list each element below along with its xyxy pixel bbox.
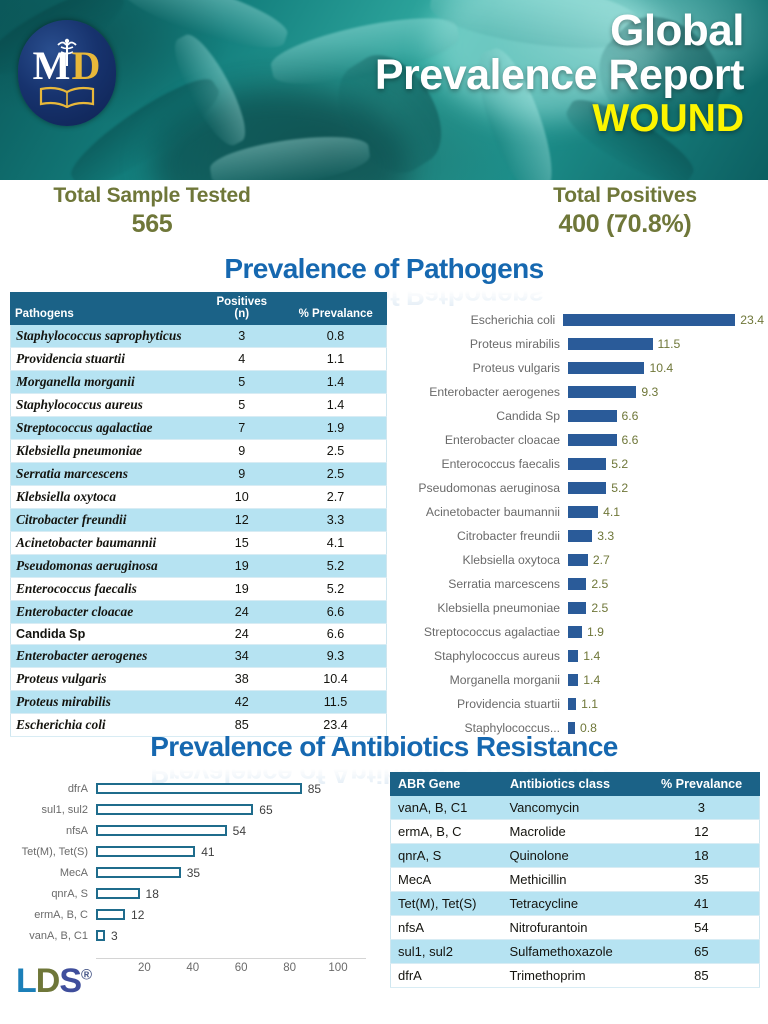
banner-title-line2: Prevalence Report [375, 53, 744, 97]
pathogen-bar-track: 2.7 [568, 548, 764, 572]
pathogen-bar-track: 23.4 [563, 308, 764, 332]
pathogen-bar-value: 1.1 [581, 697, 598, 711]
abr-bar-row: nfsA54 [6, 820, 374, 841]
abr-bar-value: 65 [259, 803, 272, 817]
pathogen-bar-track: 6.6 [568, 428, 764, 452]
cell-prevalence-pct: 5.2 [285, 555, 387, 578]
cell-abr-prevalence: 18 [644, 844, 760, 868]
pathogen-bar-value: 9.3 [641, 385, 658, 399]
pathogen-table-head: Pathogens Positives (n) % Prevalance [11, 293, 387, 325]
pathogen-bar-label: Providencia stuartii [392, 697, 568, 711]
cell-pathogen-name: Enterococcus faecalis [11, 578, 199, 601]
cell-positives-n: 19 [199, 555, 285, 578]
pathogen-bar-track: 6.6 [568, 404, 764, 428]
abr-table: ABR Gene Antibiotics class % Prevalance … [390, 772, 760, 988]
abr-bar-label: sul1, sul2 [6, 804, 96, 816]
abr-bar-track: 85 [96, 778, 374, 799]
table-row: Klebsiella pneumoniae92.5 [11, 440, 387, 463]
th-abr-prevalence: % Prevalance [644, 773, 760, 796]
pathogen-bar-track: 1.4 [568, 644, 764, 668]
abr-axis-tick-label: 20 [138, 962, 151, 974]
pathogen-bar-value: 11.5 [658, 337, 681, 351]
cell-positives-n: 24 [199, 601, 285, 624]
pathogen-bar-label: Proteus vulgaris [392, 361, 568, 375]
cell-positives-n: 5 [199, 371, 285, 394]
pathogen-bar [568, 602, 586, 614]
cell-pathogen-name: Acinetobacter baumannii [11, 532, 199, 555]
abr-bar-row: MecA35 [6, 862, 374, 883]
lds-logo-letter-s: S [59, 962, 81, 1000]
cell-abr-prevalence: 54 [644, 916, 760, 940]
banner-title-line1: Global [375, 8, 744, 53]
pathogen-bar-label: Morganella morganii [392, 673, 568, 687]
pathogen-bar-track: 1.9 [568, 620, 764, 644]
cell-prevalence-pct: 10.4 [285, 668, 387, 691]
pathogen-bar [568, 554, 588, 566]
pathogen-bar-label: Enterobacter aerogenes [392, 385, 568, 399]
pathogen-bar-label: Proteus mirabilis [392, 337, 568, 351]
th-pathogens: Pathogens [11, 293, 199, 325]
cell-positives-n: 42 [199, 691, 285, 714]
abr-axis-ticks: 20406080100 [96, 962, 374, 982]
pathogen-bar-row: Proteus vulgaris10.4 [392, 356, 764, 380]
cell-pathogen-name: Serratia marcescens [11, 463, 199, 486]
abr-bar-track: 41 [96, 841, 374, 862]
summary-stats: Total Sample Tested 565 Total Positives … [0, 184, 768, 256]
abr-bar [96, 825, 227, 836]
table-row: Candida Sp246.6 [11, 624, 387, 645]
abr-bar [96, 930, 105, 941]
stat-total-sample-value: 565 [22, 208, 282, 242]
abr-bar-value: 54 [233, 824, 246, 838]
stat-total-positives-label: Total Positives [500, 184, 750, 208]
md-logo-letter-d: D [71, 43, 101, 88]
table-row: Staphylococcus saprophyticus30.8 [11, 325, 387, 348]
table-row: Streptococcus agalactiae71.9 [11, 417, 387, 440]
cell-pathogen-name: Candida Sp [11, 624, 199, 645]
cell-abr-gene: sul1, sul2 [391, 940, 503, 964]
abr-bar-value: 3 [111, 929, 118, 943]
abr-bar-value: 12 [131, 908, 144, 922]
cell-positives-n: 3 [199, 325, 285, 348]
cell-prevalence-pct: 3.3 [285, 509, 387, 532]
pathogen-bar-row: Pseudomonas aeruginosa5.2 [392, 476, 764, 500]
abr-bar-label: vanA, B, C1 [6, 930, 96, 942]
pathogen-bar-label: Enterococcus faecalis [392, 457, 568, 471]
cell-abr-prevalence: 65 [644, 940, 760, 964]
pathogen-bar-label: Serratia marcescens [392, 577, 568, 591]
pathogen-bar-label: Acinetobacter baumannii [392, 505, 568, 519]
pathogen-bar-row: Acinetobacter baumannii4.1 [392, 500, 764, 524]
pathogen-bar [563, 314, 735, 326]
cell-pathogen-name: Klebsiella pneumoniae [11, 440, 199, 463]
pathogen-bar-row: Enterobacter cloacae6.6 [392, 428, 764, 452]
cell-pathogen-name: Proteus vulgaris [11, 668, 199, 691]
abr-table-head: ABR Gene Antibiotics class % Prevalance [391, 773, 760, 796]
table-row: Acinetobacter baumannii154.1 [11, 532, 387, 555]
cell-positives-n: 9 [199, 463, 285, 486]
cell-abr-gene: Tet(M), Tet(S) [391, 892, 503, 916]
pathogen-bar [568, 410, 617, 422]
pathogen-bar [568, 338, 653, 350]
pathogen-bar [568, 578, 586, 590]
cell-antibiotics-class: Macrolide [502, 820, 643, 844]
pathogen-bar-row: Enterococcus faecalis5.2 [392, 452, 764, 476]
cell-prevalence-pct: 1.9 [285, 417, 387, 440]
abr-axis-tick-label: 80 [283, 962, 296, 974]
cell-prevalence-pct: 5.2 [285, 578, 387, 601]
stat-total-sample: Total Sample Tested 565 [22, 184, 282, 242]
pathogen-bar-row: Enterobacter aerogenes9.3 [392, 380, 764, 404]
table-row: Pseudomonas aeruginosa195.2 [11, 555, 387, 578]
pathogen-bar [568, 482, 606, 494]
abr-bar-label: qnrA, S [6, 888, 96, 900]
cell-antibiotics-class: Quinolone [502, 844, 643, 868]
pathogen-bar-label: Pseudomonas aeruginosa [392, 481, 568, 495]
cell-positives-n: 19 [199, 578, 285, 601]
abr-bar-label: ermA, B, C [6, 909, 96, 921]
cell-prevalence-pct: 2.7 [285, 486, 387, 509]
th-prevalence: % Prevalance [285, 293, 387, 325]
abr-bar-value: 41 [201, 845, 214, 859]
cell-prevalence-pct: 11.5 [285, 691, 387, 714]
pathogen-bar-value: 10.4 [649, 361, 673, 375]
table-row: Enterobacter cloacae246.6 [11, 601, 387, 624]
pathogen-bar-label: Streptococcus agalactiae [392, 625, 568, 639]
table-row: Enterococcus faecalis195.2 [11, 578, 387, 601]
cell-abr-gene: MecA [391, 868, 503, 892]
table-row: Providencia stuartii41.1 [11, 348, 387, 371]
cell-antibiotics-class: Sulfamethoxazole [502, 940, 643, 964]
pathogen-bar-row: Providencia stuartii1.1 [392, 692, 764, 716]
cell-prevalence-pct: 1.4 [285, 371, 387, 394]
pathogen-bar-track: 3.3 [568, 524, 764, 548]
table-row: Enterobacter aerogenes349.3 [11, 645, 387, 668]
cell-abr-gene: vanA, B, C1 [391, 796, 503, 820]
cell-pathogen-name: Klebsiella oxytoca [11, 486, 199, 509]
stat-total-positives-value: 400 (70.8%) [500, 208, 750, 242]
cell-pathogen-name: Staphylococcus saprophyticus [11, 325, 199, 348]
table-row: Staphylococcus aureus51.4 [11, 394, 387, 417]
table-row: Tet(M), Tet(S)Tetracycline41 [391, 892, 760, 916]
table-row: Proteus mirabilis4211.5 [11, 691, 387, 714]
pathogen-bar-track: 4.1 [568, 500, 764, 524]
cell-pathogen-name: Pseudomonas aeruginosa [11, 555, 199, 578]
cell-antibiotics-class: Vancomycin [502, 796, 643, 820]
abr-bar-row: sul1, sul265 [6, 799, 374, 820]
cell-pathogen-name: Staphylococcus aureus [11, 394, 199, 417]
pathogen-bar-row: Serratia marcescens2.5 [392, 572, 764, 596]
th-abr-gene: ABR Gene [391, 773, 503, 796]
cell-prevalence-pct: 2.5 [285, 440, 387, 463]
cell-abr-prevalence: 41 [644, 892, 760, 916]
pathogen-bar-row: Klebsiella oxytoca2.7 [392, 548, 764, 572]
table-row: MecAMethicillin35 [391, 868, 760, 892]
abr-bar [96, 846, 195, 857]
table-row: sul1, sul2Sulfamethoxazole65 [391, 940, 760, 964]
abr-bar-value: 18 [146, 887, 159, 901]
cell-positives-n: 7 [199, 417, 285, 440]
th-antibiotics-class: Antibiotics class [502, 773, 643, 796]
pathogen-bar-row: Staphylococcus aureus1.4 [392, 644, 764, 668]
pathogen-bar-row: Citrobacter freundii3.3 [392, 524, 764, 548]
pathogen-bar-value: 6.6 [622, 409, 639, 423]
th-positives-line2: (n) [203, 308, 280, 320]
pathogen-bar-track: 10.4 [568, 356, 764, 380]
table-row: vanA, B, C1Vancomycin3 [391, 796, 760, 820]
pathogen-bar-label: Klebsiella pneumoniae [392, 601, 568, 615]
abr-bar-value: 85 [308, 782, 321, 796]
lds-logo-letter-l: L [16, 962, 36, 1000]
pathogen-bar-value: 23.4 [740, 313, 764, 327]
cell-pathogen-name: Citrobacter freundii [11, 509, 199, 532]
pathogen-bar [568, 434, 617, 446]
pathogen-bar [568, 530, 592, 542]
pathogen-bar-row: Candida Sp6.6 [392, 404, 764, 428]
md-logo-letters: MD [18, 46, 116, 86]
banner-title-group: Global Prevalence Report WOUND [375, 8, 744, 140]
lds-logo: LDS® [16, 962, 91, 1001]
cell-prevalence-pct: 6.6 [285, 624, 387, 645]
cell-prevalence-pct: 1.1 [285, 348, 387, 371]
th-positives: Positives (n) [199, 293, 285, 325]
cell-positives-n: 9 [199, 440, 285, 463]
md-logo: MD [18, 20, 116, 126]
pathogen-bar [568, 698, 576, 710]
pathogen-bar-label: Candida Sp [392, 409, 568, 423]
abr-bar-value: 35 [187, 866, 200, 880]
pathogen-bar-value: 6.6 [622, 433, 639, 447]
pathogen-bar [568, 650, 578, 662]
pathogen-bar-track: 2.5 [568, 596, 764, 620]
cell-pathogen-name: Enterobacter aerogenes [11, 645, 199, 668]
cell-abr-prevalence: 35 [644, 868, 760, 892]
pathogen-bar-value: 3.3 [597, 529, 614, 543]
cell-positives-n: 34 [199, 645, 285, 668]
abr-bar-track: 18 [96, 883, 374, 904]
pathogen-bar-value: 2.5 [591, 601, 608, 615]
cell-abr-prevalence: 85 [644, 964, 760, 988]
cell-pathogen-name: Providencia stuartii [11, 348, 199, 371]
pathogen-bar-label: Citrobacter freundii [392, 529, 568, 543]
cell-prevalence-pct: 4.1 [285, 532, 387, 555]
abr-bar-track: 35 [96, 862, 374, 883]
pathogen-bar-label: Escherichia coli [392, 313, 563, 327]
pathogen-bar-value: 1.4 [583, 649, 600, 663]
abr-bar-track: 65 [96, 799, 374, 820]
pathogen-bar [568, 386, 636, 398]
cell-antibiotics-class: Methicillin [502, 868, 643, 892]
cell-positives-n: 38 [199, 668, 285, 691]
registered-trademark-icon: ® [81, 967, 91, 984]
pathogen-bar-row: Escherichia coli23.4 [392, 308, 764, 332]
cell-prevalence-pct: 0.8 [285, 325, 387, 348]
abr-axis-tick-label: 100 [328, 962, 347, 974]
cell-abr-prevalence: 3 [644, 796, 760, 820]
cell-pathogen-name: Proteus mirabilis [11, 691, 199, 714]
table-row: Serratia marcescens92.5 [11, 463, 387, 486]
cell-antibiotics-class: Nitrofurantoin [502, 916, 643, 940]
lds-logo-letter-d: D [36, 962, 60, 1000]
table-header-row: ABR Gene Antibiotics class % Prevalance [391, 773, 760, 796]
pathogen-bar-row: Proteus mirabilis11.5 [392, 332, 764, 356]
stat-total-positives: Total Positives 400 (70.8%) [500, 184, 750, 242]
abr-bar [96, 804, 253, 815]
table-row: qnrA, SQuinolone18 [391, 844, 760, 868]
abr-axis-line [96, 958, 366, 959]
cell-positives-n: 4 [199, 348, 285, 371]
abr-axis-tick-label: 40 [186, 962, 199, 974]
abr-bar-row: ermA, B, C12 [6, 904, 374, 925]
cell-positives-n: 15 [199, 532, 285, 555]
cell-prevalence-pct: 2.5 [285, 463, 387, 486]
pathogen-bar-value: 4.1 [603, 505, 620, 519]
pathogen-bar-value: 1.9 [587, 625, 604, 639]
abr-bar [96, 867, 181, 878]
table-row: dfrATrimethoprim85 [391, 964, 760, 988]
cell-positives-n: 10 [199, 486, 285, 509]
cell-abr-gene: qnrA, S [391, 844, 503, 868]
abr-bar-row: Tet(M), Tet(S)41 [6, 841, 374, 862]
abr-bar [96, 783, 302, 794]
abr-bar-label: dfrA [6, 783, 96, 795]
cell-prevalence-pct: 6.6 [285, 601, 387, 624]
table-row: Proteus vulgaris3810.4 [11, 668, 387, 691]
table-row: Morganella morganii51.4 [11, 371, 387, 394]
cell-pathogen-name: Morganella morganii [11, 371, 199, 394]
pathogen-bar [568, 458, 606, 470]
pathogen-bar-value: 5.2 [611, 481, 628, 495]
book-icon [38, 86, 96, 108]
abr-bar [96, 888, 140, 899]
pathogen-bar-value: 2.7 [593, 553, 610, 567]
pathogen-bar-row: Morganella morganii1.4 [392, 668, 764, 692]
abr-axis-tick-label: 60 [235, 962, 248, 974]
abr-bar [96, 909, 125, 920]
pathogen-bar-row: Klebsiella pneumoniae2.5 [392, 596, 764, 620]
cell-prevalence-pct: 1.4 [285, 394, 387, 417]
header-banner: MD Global Prevalence Report WOUND [0, 0, 768, 180]
cell-prevalence-pct: 9.3 [285, 645, 387, 668]
pathogen-bar-label: Klebsiella oxytoca [392, 553, 568, 567]
pathogen-bar-value: 5.2 [611, 457, 628, 471]
cell-positives-n: 24 [199, 624, 285, 645]
pathogen-bar-row: Streptococcus agalactiae1.9 [392, 620, 764, 644]
banner-title-specimen: WOUND [375, 98, 744, 141]
pathogen-bar-track: 1.4 [568, 668, 764, 692]
abr-bar-track: 12 [96, 904, 374, 925]
pathogen-bar [568, 626, 582, 638]
abr-bar-row: vanA, B, C13 [6, 925, 374, 946]
pathogen-bar-chart: Escherichia coli23.4Proteus mirabilis11.… [392, 308, 764, 716]
pathogen-bar-value: 1.4 [583, 673, 600, 687]
table-row: Klebsiella oxytoca102.7 [11, 486, 387, 509]
table-row: ermA, B, CMacrolide12 [391, 820, 760, 844]
abr-bar-label: MecA [6, 867, 96, 879]
cell-positives-n: 12 [199, 509, 285, 532]
table-header-row: Pathogens Positives (n) % Prevalance [11, 293, 387, 325]
abr-bar-row: dfrA85 [6, 778, 374, 799]
pathogen-bar-track: 1.1 [568, 692, 764, 716]
table-row: Citrobacter freundii123.3 [11, 509, 387, 532]
pathogen-bar-track: 2.5 [568, 572, 764, 596]
abr-table-body: vanA, B, C1Vancomycin3ermA, B, CMacrolid… [391, 796, 760, 988]
pathogen-bar [568, 674, 578, 686]
pathogen-table: Pathogens Positives (n) % Prevalance Sta… [10, 292, 387, 737]
md-logo-letter-m: M [33, 43, 72, 88]
pathogen-bar-track: 11.5 [568, 332, 764, 356]
abr-bar-track: 54 [96, 820, 374, 841]
pathogen-bar-value: 2.5 [591, 577, 608, 591]
cell-antibiotics-class: Trimethoprim [502, 964, 643, 988]
abr-bar-track: 3 [96, 925, 374, 946]
pathogen-bar [568, 506, 598, 518]
cell-pathogen-name: Streptococcus agalactiae [11, 417, 199, 440]
cell-abr-gene: ermA, B, C [391, 820, 503, 844]
pathogen-bar-label: Staphylococcus aureus [392, 649, 568, 663]
stat-total-sample-label: Total Sample Tested [22, 184, 282, 208]
pathogen-bar-label: Enterobacter cloacae [392, 433, 568, 447]
cell-abr-gene: dfrA [391, 964, 503, 988]
pathogen-bar-track: 5.2 [568, 452, 764, 476]
pathogen-table-body: Staphylococcus saprophyticus30.8Providen… [11, 325, 387, 737]
abr-bar-label: Tet(M), Tet(S) [6, 846, 96, 858]
cell-positives-n: 5 [199, 394, 285, 417]
pathogen-bar [568, 362, 644, 374]
abr-bar-label: nfsA [6, 825, 96, 837]
th-positives-line1: Positives [203, 296, 280, 308]
pathogen-bar-track: 9.3 [568, 380, 764, 404]
abr-bar-chart: dfrA85sul1, sul265nfsA54Tet(M), Tet(S)41… [6, 778, 374, 958]
cell-pathogen-name: Enterobacter cloacae [11, 601, 199, 624]
pathogen-bar-track: 5.2 [568, 476, 764, 500]
table-row: nfsANitrofurantoin54 [391, 916, 760, 940]
cell-antibiotics-class: Tetracycline [502, 892, 643, 916]
abr-bar-row: qnrA, S18 [6, 883, 374, 904]
cell-abr-gene: nfsA [391, 916, 503, 940]
cell-abr-prevalence: 12 [644, 820, 760, 844]
